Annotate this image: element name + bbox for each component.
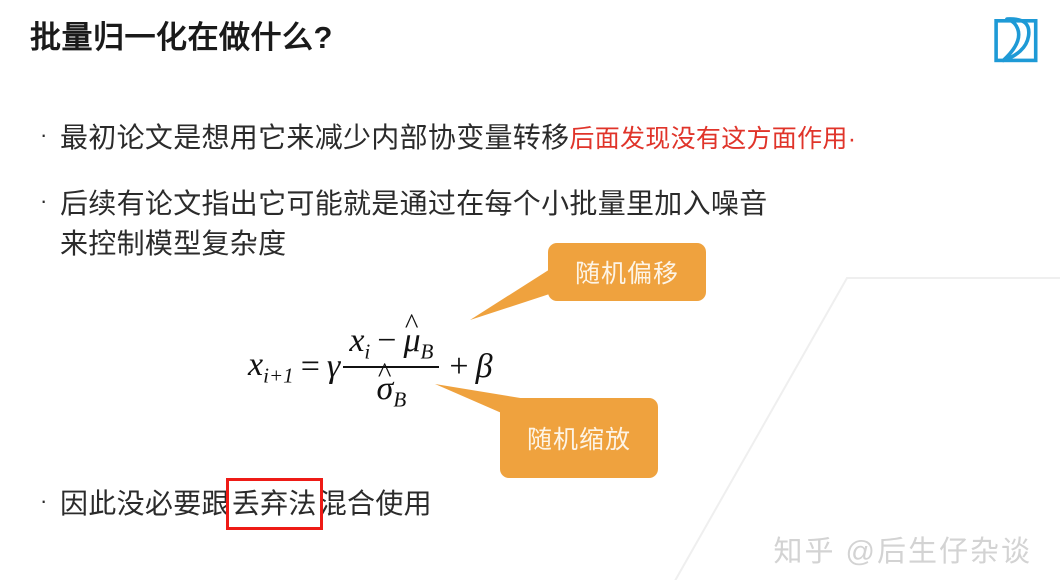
bullet-marker: ·: [40, 484, 60, 518]
formula-lhs-subscript: i+1: [263, 364, 294, 388]
callout-random-scale-label: 随机缩放: [527, 420, 631, 456]
bullet-1-annotation: 后面发现没有这方面作用·: [569, 125, 856, 153]
bullet-2-line-1: 后续有论文指出它可能就是通过在每个小批量里加入噪音: [60, 188, 768, 219]
highlighted-term-dropout: 丢弃法: [230, 484, 319, 524]
bullet-3-text-after: 混合使用: [319, 488, 432, 519]
bullet-1-content: 最初论文是想用它来减少内部协变量转移后面发现没有这方面作用·: [60, 118, 856, 158]
page-title: 批量归一化在做什么?: [30, 12, 333, 57]
formula-mu-hat: ^μ: [403, 322, 420, 360]
bullet-2-line-2: 来控制模型复杂度: [60, 228, 286, 259]
formula-mu-accent: ^: [405, 310, 419, 339]
bullet-3-content: 因此没必要跟丢弃法混合使用: [60, 484, 432, 524]
formula-minus: −: [377, 322, 396, 359]
bullet-1-text: 最初论文是想用它来减少内部协变量转移: [60, 122, 569, 153]
formula-num-var: x: [349, 322, 364, 359]
formula-denominator: ^σB: [371, 368, 413, 412]
formula-plus: +: [449, 348, 468, 386]
callout-random-scale[interactable]: 随机缩放: [500, 398, 658, 478]
callout-random-shift[interactable]: 随机偏移: [548, 243, 706, 301]
formula-sigma-accent: ^: [378, 359, 392, 388]
bullet-marker: ·: [40, 184, 60, 218]
formula-beta: β: [476, 348, 493, 386]
bullet-item-3: · 因此没必要跟丢弃法混合使用: [40, 484, 740, 524]
zhihu-column-logo-icon: [988, 8, 1042, 66]
bullet-marker: ·: [40, 118, 60, 152]
batch-norm-formula: xi+1 = γ xi−^μB ^σB + β: [248, 322, 493, 413]
bullet-3-text-before: 因此没必要跟: [60, 488, 230, 519]
formula-num-subscript: i: [364, 339, 370, 363]
formula-mu-subscript: B: [421, 339, 434, 363]
watermark: 知乎 @后生仔杂谈: [774, 528, 1033, 570]
bullet-item-1: · 最初论文是想用它来减少内部协变量转移后面发现没有这方面作用·: [40, 118, 1030, 158]
bullet-item-2: · 后续有论文指出它可能就是通过在每个小批量里加入噪音 来控制模型复杂度: [40, 184, 1000, 264]
formula-fraction: xi−^μB ^σB: [343, 322, 439, 413]
formula-equals: =: [301, 348, 320, 386]
formula-lhs: xi+1: [248, 346, 294, 388]
formula-gamma: γ: [327, 348, 340, 386]
formula-sigma-subscript: B: [393, 388, 406, 412]
callout-random-shift-label: 随机偏移: [575, 254, 679, 290]
slide-canvas: 批量归一化在做什么? · 最初论文是想用它来减少内部协变量转移后面发现没有这方面…: [0, 0, 1060, 580]
formula-sigma-hat: ^σ: [377, 370, 394, 408]
formula-lhs-var: x: [248, 346, 263, 383]
